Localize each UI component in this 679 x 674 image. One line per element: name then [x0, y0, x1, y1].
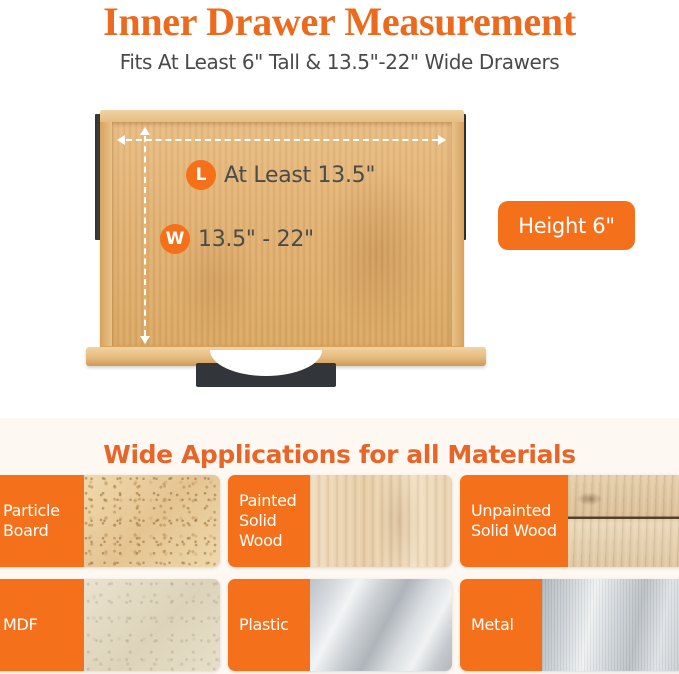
length-dimension-line — [126, 139, 438, 141]
page-subtitle: Fits At Least 6" Tall & 13.5"-22" Wide D… — [0, 48, 679, 76]
length-arrow-right-icon — [438, 135, 446, 145]
height-badge: Height 6" — [498, 201, 635, 250]
drawer-inner-wall-left — [100, 122, 112, 346]
material-label: Metal — [460, 579, 542, 671]
material-label: Unpainted Solid Wood — [460, 475, 568, 567]
material-label: Particle Board — [0, 475, 84, 567]
material-card-plastic: Plastic — [228, 579, 452, 671]
width-dimension-line — [144, 136, 146, 336]
length-dimension-text: At Least 13.5" — [224, 163, 375, 188]
materials-section: Wide Applications for all Materials Part… — [0, 418, 679, 674]
width-dimension-text: 13.5" - 22" — [198, 227, 314, 252]
particle-board-texture — [84, 475, 220, 567]
drawer-handle-cutout — [210, 350, 322, 376]
material-card-mdf: MDF — [0, 579, 220, 671]
material-card-unpainted-solid-wood: Unpainted Solid Wood — [460, 475, 679, 567]
metal-texture — [542, 579, 679, 671]
materials-grid: Particle Board Painted Solid Wood Unpain… — [0, 475, 679, 674]
page-title: Inner Drawer Measurement — [0, 0, 679, 44]
width-badge-icon: W — [160, 224, 190, 254]
drawer-handle — [196, 363, 336, 387]
width-arrow-down-icon — [140, 336, 150, 344]
material-card-particle-board: Particle Board — [0, 475, 220, 567]
length-badge-icon: L — [186, 160, 216, 190]
material-label: Plastic — [228, 579, 310, 671]
drawer-inner-wall-right — [452, 122, 464, 346]
material-label: Painted Solid Wood — [228, 475, 310, 567]
materials-heading: Wide Applications for all Materials — [0, 440, 679, 469]
plastic-texture — [310, 579, 452, 671]
width-dimension-label: W 13.5" - 22" — [160, 224, 314, 254]
drawer-illustration: L At Least 13.5" W 13.5" - 22" — [86, 100, 486, 385]
painted-solid-wood-texture — [310, 475, 452, 567]
mdf-texture — [84, 579, 220, 671]
width-arrow-up-icon — [140, 127, 150, 135]
material-card-metal: Metal — [460, 579, 679, 671]
material-label: MDF — [0, 579, 84, 671]
drawer-top-rim — [100, 110, 464, 122]
unpainted-solid-wood-texture — [568, 475, 679, 567]
drawer-measurement-section: Inner Drawer Measurement Fits At Least 6… — [0, 0, 679, 418]
material-card-painted-solid-wood: Painted Solid Wood — [228, 475, 452, 567]
length-dimension-label: L At Least 13.5" — [186, 160, 375, 190]
length-arrow-left-icon — [117, 135, 125, 145]
drawer-box: L At Least 13.5" W 13.5" - 22" — [100, 110, 464, 353]
